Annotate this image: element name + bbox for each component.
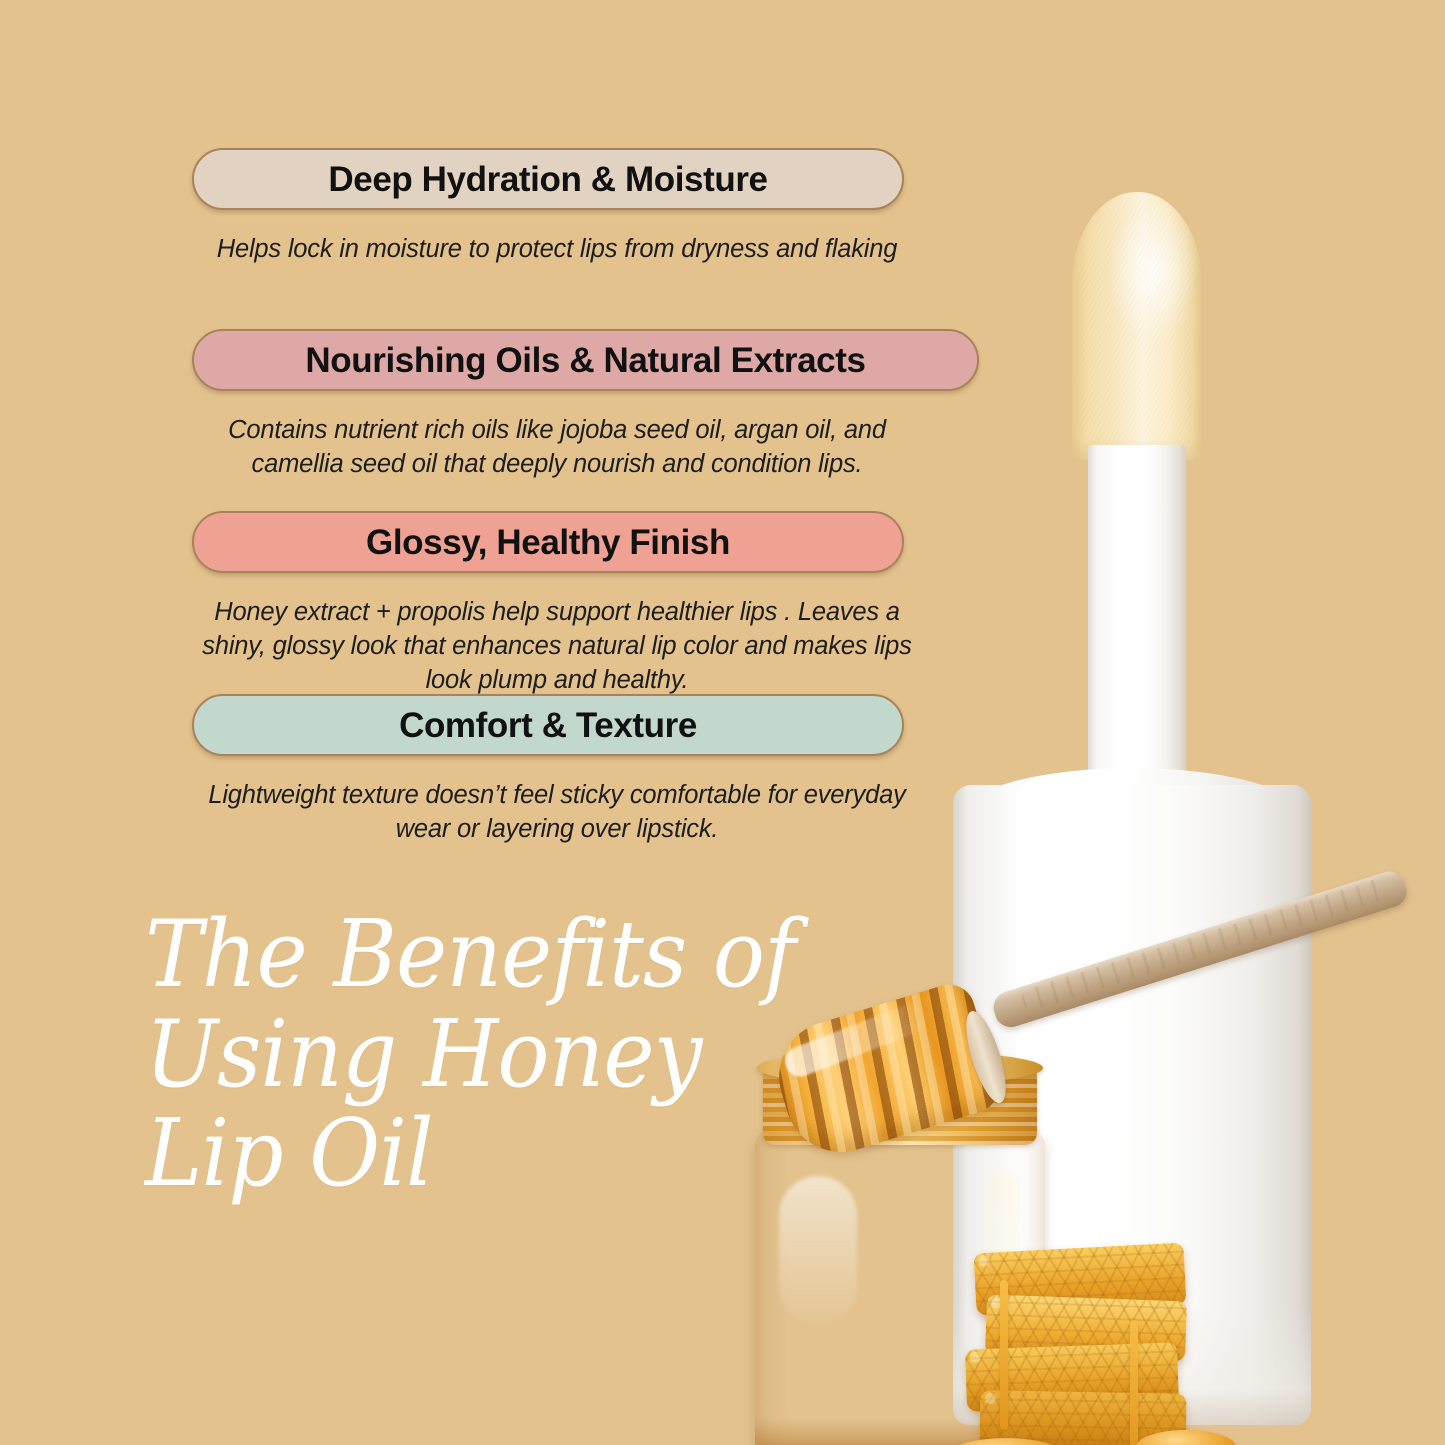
feature-badge-label: Comfort & Texture xyxy=(399,708,697,743)
feature-description: Lightweight texture doesn’t feel sticky … xyxy=(192,778,922,846)
feature-badge-nourishing-oils[interactable]: Nourishing Oils & Natural Extracts xyxy=(192,329,979,391)
feature-item-comfort-texture: Comfort & Texture Lightweight texture do… xyxy=(0,694,1000,846)
feature-item-glossy-finish: Glossy, Healthy Finish Honey extract + p… xyxy=(0,511,1000,697)
feature-badge-glossy-finish[interactable]: Glossy, Healthy Finish xyxy=(192,511,904,573)
feature-badge-deep-hydration[interactable]: Deep Hydration & Moisture xyxy=(192,148,904,210)
lip-oil-wand-stem-icon xyxy=(1088,445,1186,805)
feature-badge-comfort-texture[interactable]: Comfort & Texture xyxy=(192,694,904,756)
page-title-line-2: Using Honey xyxy=(145,1005,740,1105)
infographic-canvas: Deep Hydration & Moisture Helps lock in … xyxy=(0,0,1445,1445)
feature-description: Honey extract + propolis help support he… xyxy=(192,595,922,697)
feature-item-deep-hydration: Deep Hydration & Moisture Helps lock in … xyxy=(0,148,1000,266)
page-title-line-3: Lip Oil xyxy=(145,1104,740,1204)
honey-drip-icon xyxy=(1000,1280,1008,1430)
feature-badge-label: Glossy, Healthy Finish xyxy=(366,525,730,560)
page-title: The Benefits of Using Honey Lip Oil xyxy=(145,905,740,1204)
lip-oil-applicator-tip-icon xyxy=(1072,192,1202,460)
page-title-line-1: The Benefits of xyxy=(145,905,740,1005)
feature-description: Contains nutrient rich oils like jojoba … xyxy=(192,413,922,481)
honey-jar-highlight-icon xyxy=(779,1176,857,1326)
feature-item-nourishing-oils: Nourishing Oils & Natural Extracts Conta… xyxy=(0,329,1000,481)
feature-description: Helps lock in moisture to protect lips f… xyxy=(192,232,922,266)
honey-drip-icon xyxy=(1130,1320,1138,1445)
feature-badge-label: Deep Hydration & Moisture xyxy=(328,162,767,197)
feature-badge-label: Nourishing Oils & Natural Extracts xyxy=(305,343,865,378)
